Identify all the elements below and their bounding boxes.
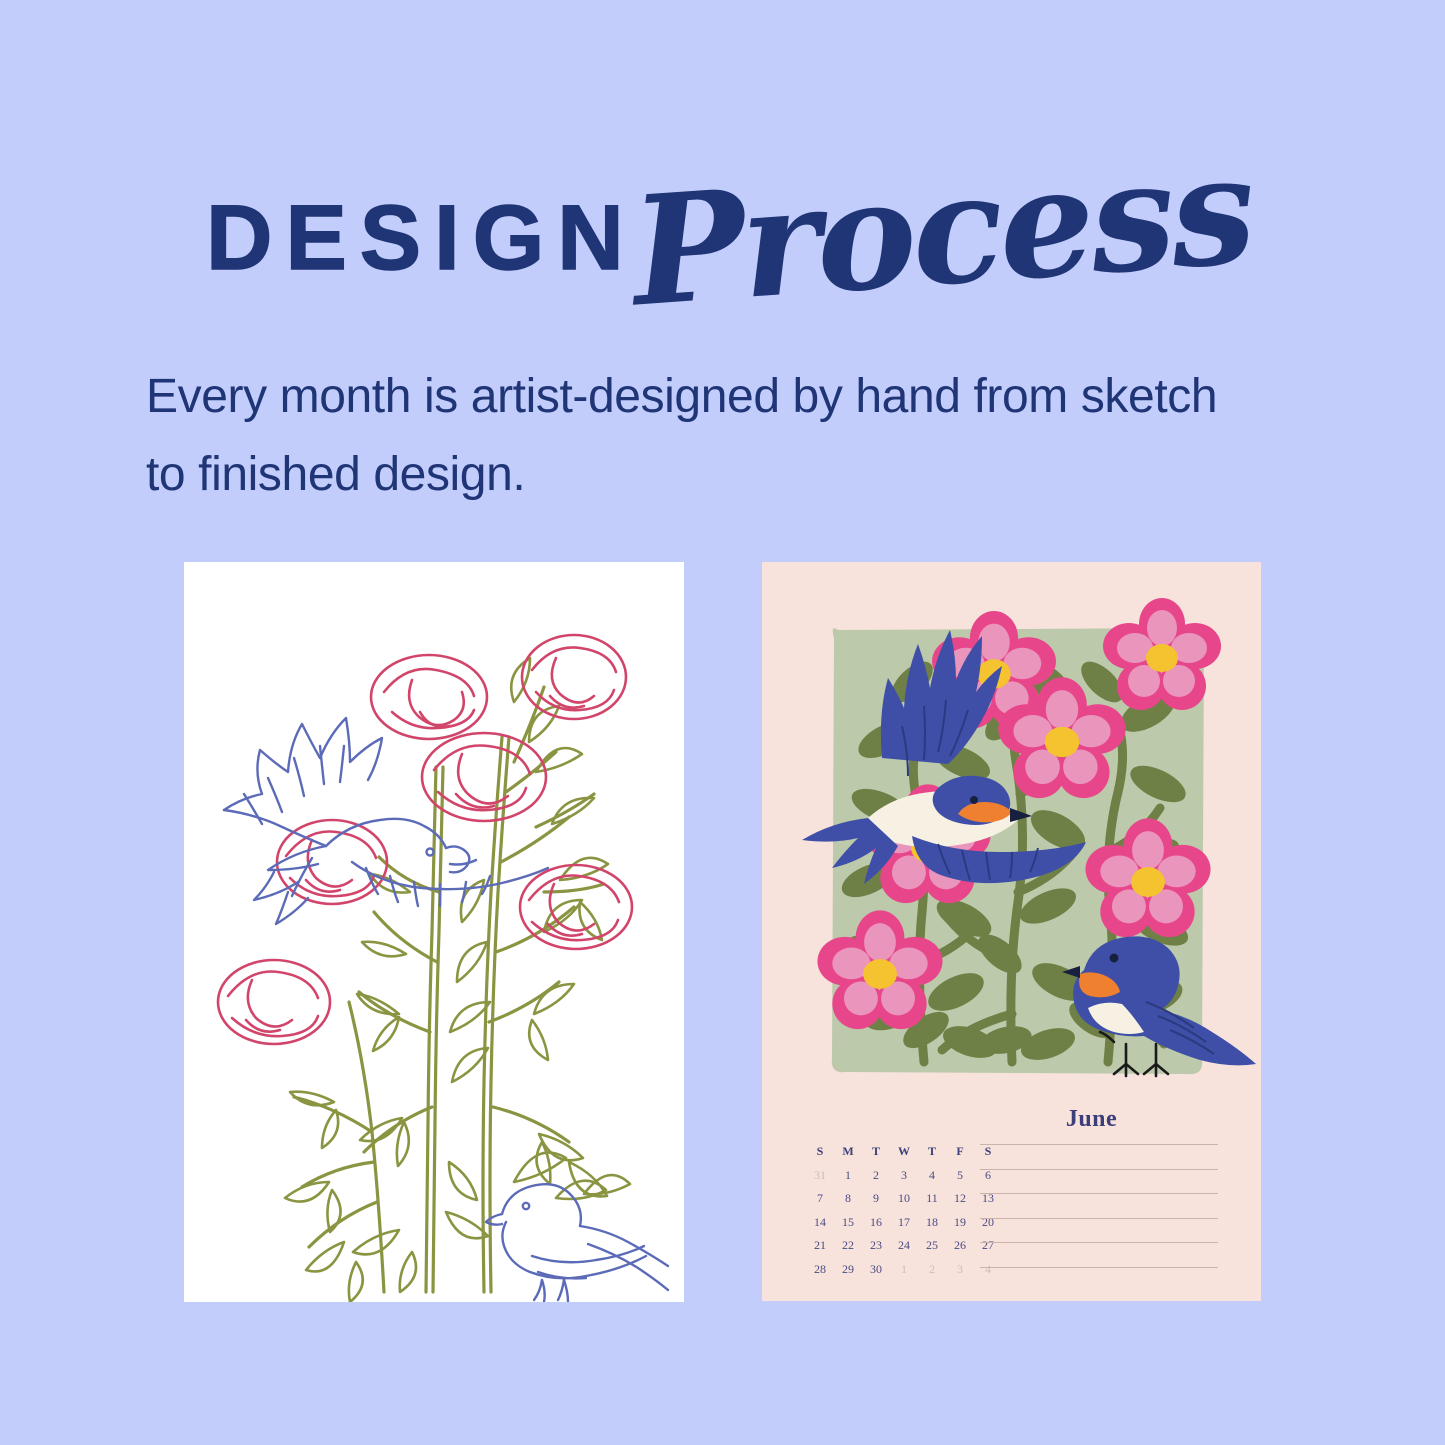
calendar-note-line[interactable] [980, 1169, 1218, 1170]
calendar-note-line[interactable] [980, 1218, 1218, 1219]
calendar-day-cell[interactable]: 1 [834, 1164, 862, 1188]
calendar-day-cell[interactable]: 21 [806, 1234, 834, 1258]
calendar-block: June SMTWTFS3112345678910111213141516171… [762, 1100, 1261, 1301]
calendar-day-cell[interactable]: 31 [806, 1164, 834, 1188]
calendar-day-cell[interactable]: 26 [946, 1234, 974, 1258]
calendar-note-line[interactable] [980, 1242, 1218, 1243]
sketch-panel [184, 562, 684, 1302]
calendar-note-line[interactable] [980, 1144, 1218, 1145]
calendar-note-lines[interactable] [980, 1144, 1218, 1292]
title-design-word: DESIGN [206, 192, 637, 284]
calendar-day-cell[interactable]: 12 [946, 1187, 974, 1211]
calendar-day-cell[interactable]: 7 [806, 1187, 834, 1211]
calendar-day-cell[interactable]: 17 [890, 1211, 918, 1235]
poster-canvas: DESIGN Process Every month is artist-des… [0, 0, 1445, 1445]
calendar-day-cell[interactable]: 2 [918, 1258, 946, 1282]
calendar-day-cell[interactable]: 23 [862, 1234, 890, 1258]
calendar-day-cell[interactable]: 11 [918, 1187, 946, 1211]
calendar-day-cell[interactable]: 16 [862, 1211, 890, 1235]
calendar-day-cell[interactable]: 5 [946, 1164, 974, 1188]
calendar-weekday: F [946, 1140, 974, 1164]
calendar-day-cell[interactable]: 22 [834, 1234, 862, 1258]
calendar-day-cell[interactable]: 3 [890, 1164, 918, 1188]
calendar-day-cell[interactable]: 28 [806, 1258, 834, 1282]
calendar-day-cell[interactable]: 3 [946, 1258, 974, 1282]
calendar-day-cell[interactable]: 14 [806, 1211, 834, 1235]
calendar-weekday: W [890, 1140, 918, 1164]
calendar-day-cell[interactable]: 15 [834, 1211, 862, 1235]
calendar-day-cell[interactable]: 18 [918, 1211, 946, 1235]
page-title: DESIGN Process [0, 178, 1445, 368]
calendar-day-cell[interactable]: 2 [862, 1164, 890, 1188]
calendar-weekday: M [834, 1140, 862, 1164]
calendar-note-line[interactable] [980, 1193, 1218, 1194]
calendar-day-cell[interactable]: 10 [890, 1187, 918, 1211]
calendar-note-line[interactable] [980, 1267, 1218, 1268]
sketch-illustration [184, 562, 684, 1302]
page-subtitle: Every month is artist-designed by hand f… [146, 358, 1266, 514]
calendar-weekday: S [806, 1140, 834, 1164]
calendar-day-cell[interactable]: 30 [862, 1258, 890, 1282]
calendar-weekday: T [862, 1140, 890, 1164]
calendar-day-cell[interactable]: 4 [918, 1164, 946, 1188]
calendar-month-label: June [762, 1106, 1261, 1133]
calendar-weekday: T [918, 1140, 946, 1164]
calendar-day-cell[interactable]: 9 [862, 1187, 890, 1211]
calendar-day-cell[interactable]: 8 [834, 1187, 862, 1211]
calendar-grid[interactable]: SMTWTFS311234567891011121314151617181920… [806, 1140, 1002, 1281]
title-process-word: Process [628, 135, 1257, 328]
calendar-day-cell[interactable]: 25 [918, 1234, 946, 1258]
calendar-day-cell[interactable]: 19 [946, 1211, 974, 1235]
calendar-day-cell[interactable]: 29 [834, 1258, 862, 1282]
calendar-day-cell[interactable]: 24 [890, 1234, 918, 1258]
calendar-day-cell[interactable]: 1 [890, 1258, 918, 1282]
